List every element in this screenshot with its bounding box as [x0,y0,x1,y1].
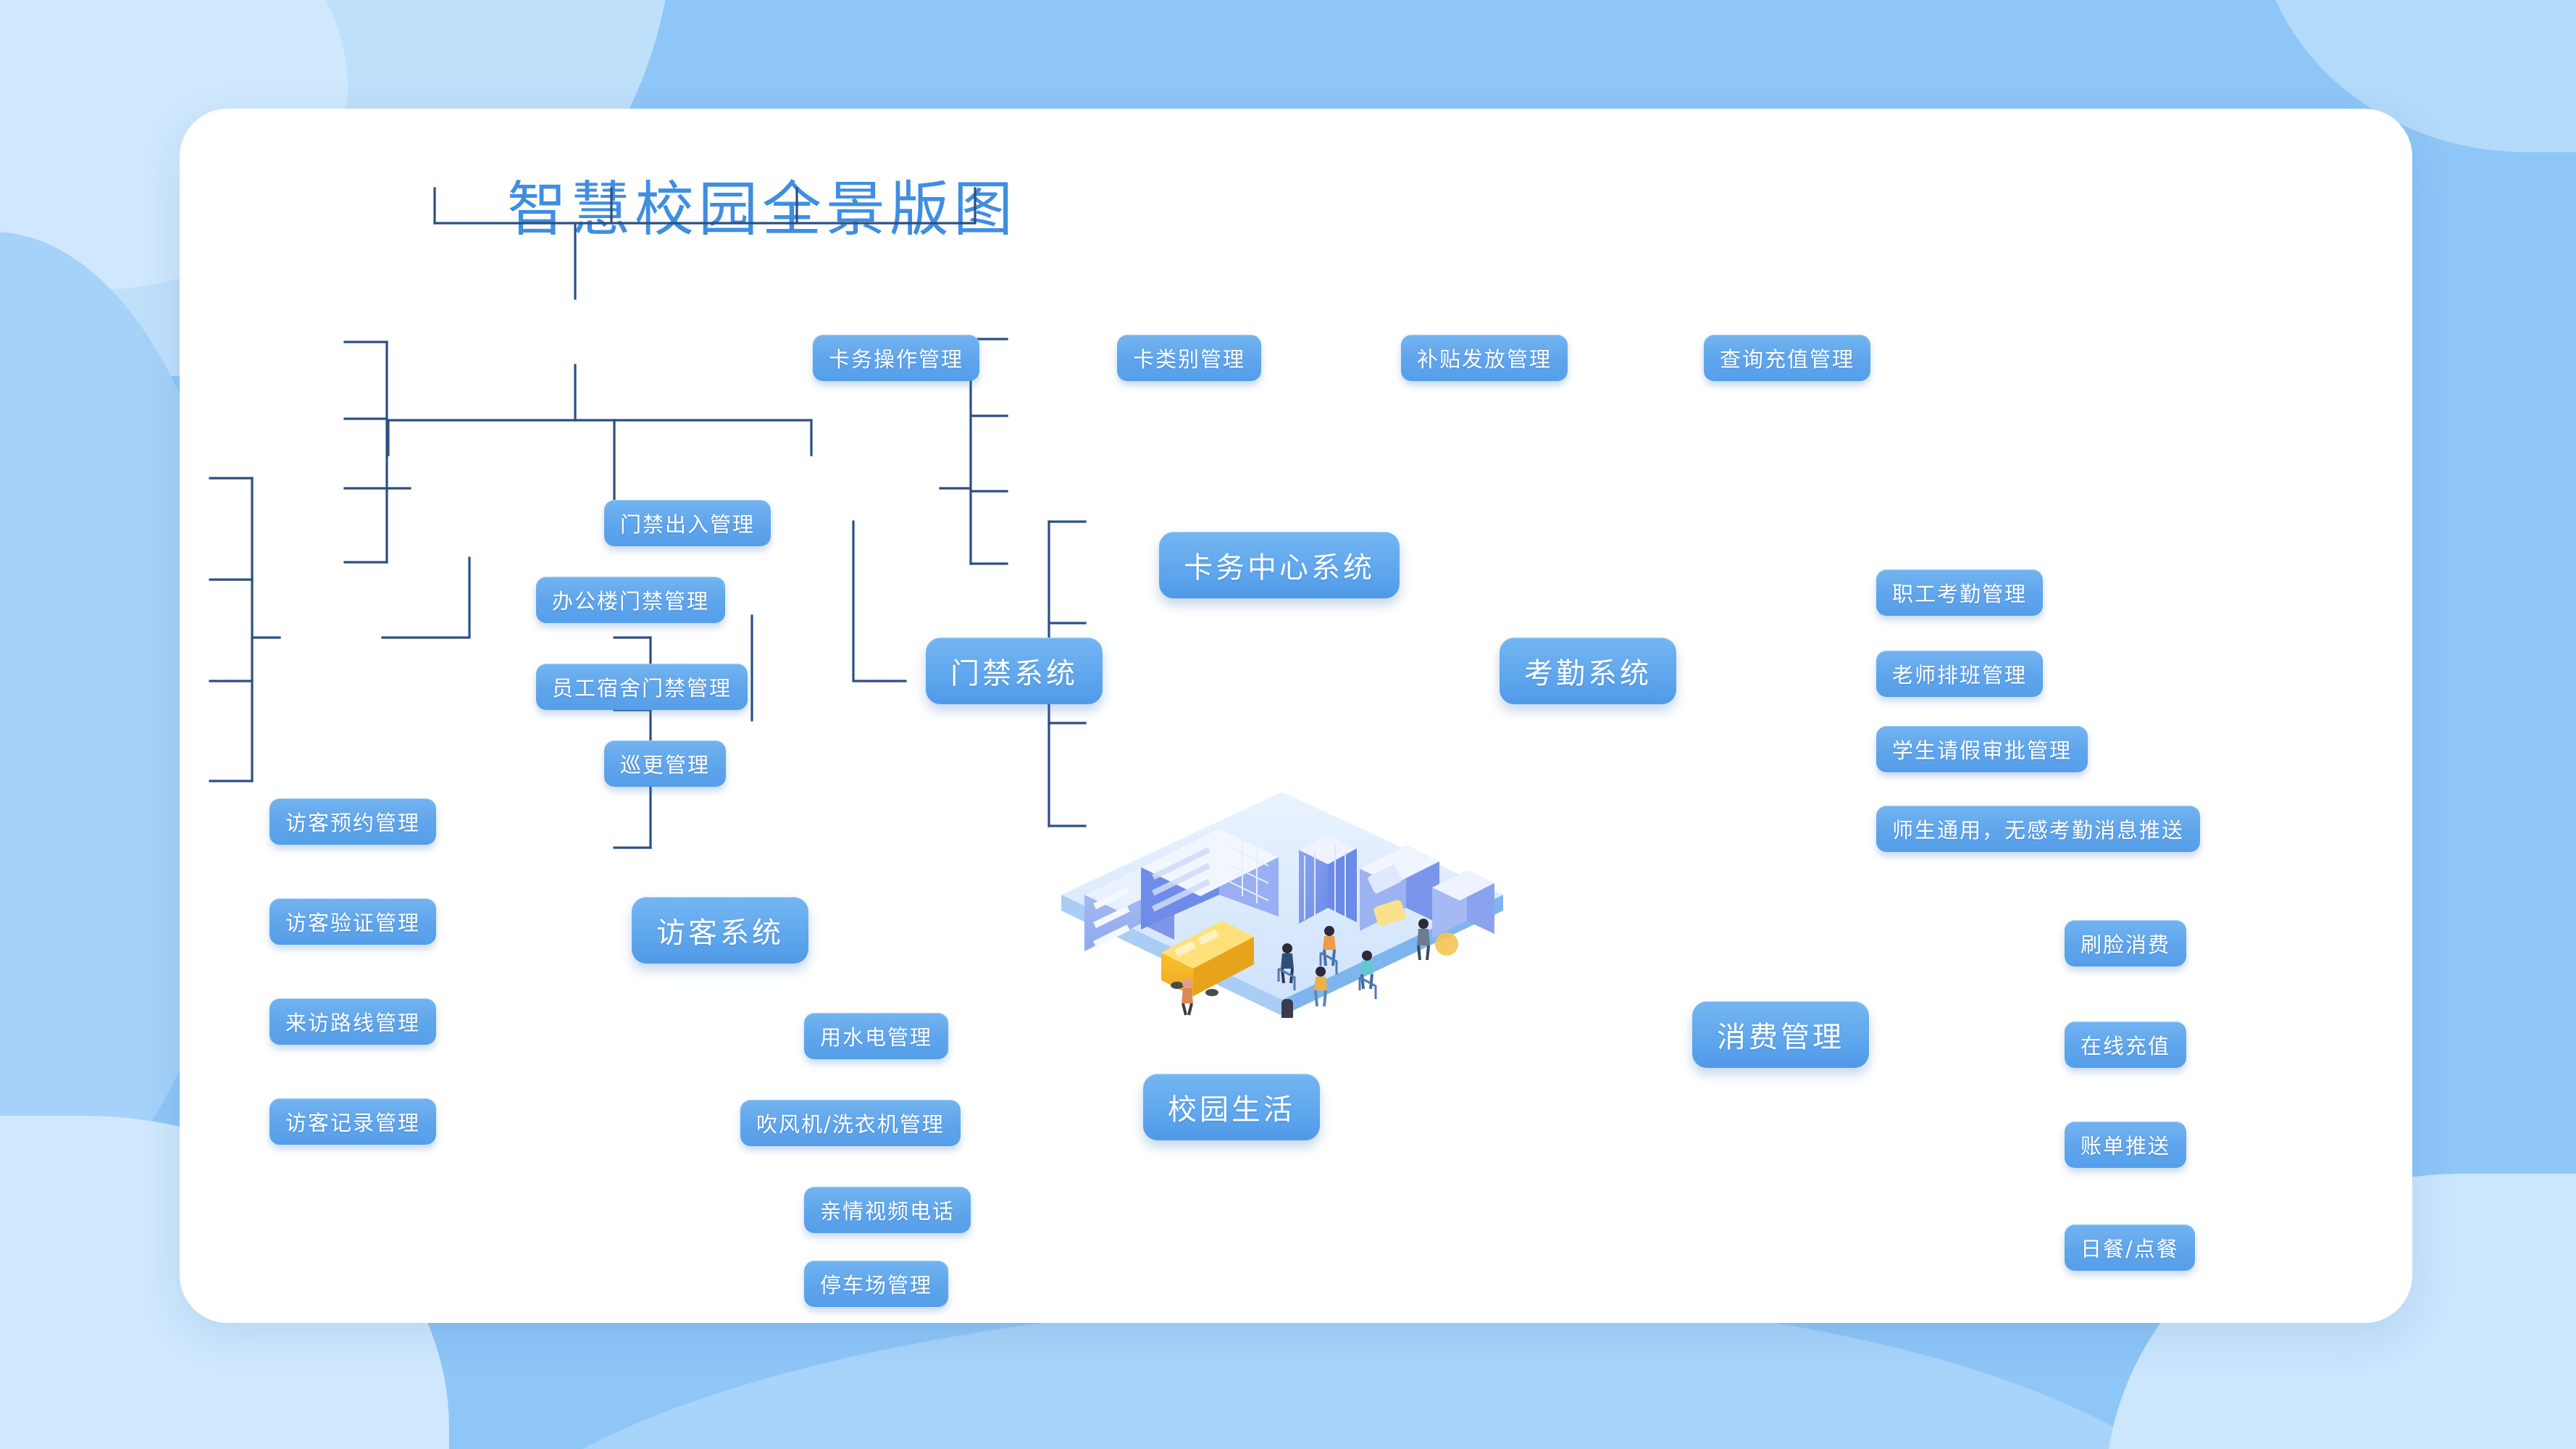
node-attendance-push-message[interactable]: 师生通用，无感考勤消息推送 [1876,806,2200,852]
node-visitor-record[interactable]: 访客记录管理 [269,1098,436,1145]
node-staff-attendance[interactable]: 职工考勤管理 [1876,569,2043,616]
node-dryer-washer[interactable]: 吹风机/洗衣机管理 [740,1100,961,1146]
person-student-2 [1314,966,1327,1006]
node-access-control-system[interactable]: 门禁系统 [926,638,1103,704]
node-online-recharge[interactable]: 在线充值 [2065,1022,2186,1068]
node-card-category-management[interactable]: 卡类别管理 [1117,335,1261,381]
node-card-operation-management[interactable]: 卡务操作管理 [813,335,979,381]
node-office-building-access[interactable]: 办公楼门禁管理 [536,577,725,623]
node-subsidy-issuance-management[interactable]: 补贴发放管理 [1401,335,1568,381]
node-visitor-system[interactable]: 访客系统 [632,897,808,964]
node-visitor-verification[interactable]: 访客验证管理 [269,898,436,945]
node-access-entry-management[interactable]: 门禁出入管理 [604,500,771,546]
page-title: 智慧校园全景版图 [507,161,1017,247]
node-family-video-call[interactable]: 亲情视频电话 [804,1187,971,1233]
node-patrol-management[interactable]: 巡更管理 [604,740,726,787]
node-teacher-scheduling[interactable]: 老师排班管理 [1876,651,2043,697]
node-card-center-system[interactable]: 卡务中心系统 [1159,532,1400,598]
node-visitor-appointment[interactable]: 访客预约管理 [269,798,436,845]
node-consumption-management[interactable]: 消费管理 [1692,1001,1869,1068]
node-water-electricity[interactable]: 用水电管理 [804,1013,948,1059]
node-campus-life[interactable]: 校园生活 [1143,1074,1320,1140]
node-bill-push[interactable]: 账单推送 [2065,1122,2186,1168]
node-visitor-route[interactable]: 来访路线管理 [269,998,436,1045]
person-walking [1182,978,1193,1015]
node-query-recharge-management[interactable]: 查询充值管理 [1704,335,1870,381]
isometric-campus-illustration [1032,714,1532,1018]
node-meal-ordering[interactable]: 日餐/点餐 [2065,1224,2195,1271]
node-staff-dorm-access[interactable]: 员工宿舍门禁管理 [536,664,748,710]
person-standing-right [1417,919,1430,960]
node-face-payment[interactable]: 刷脸消费 [2065,920,2186,966]
node-student-leave-approval[interactable]: 学生请假审批管理 [1876,726,2088,772]
node-attendance-system[interactable]: 考勤系统 [1500,638,1676,704]
node-parking-management[interactable]: 停车场管理 [804,1261,948,1307]
